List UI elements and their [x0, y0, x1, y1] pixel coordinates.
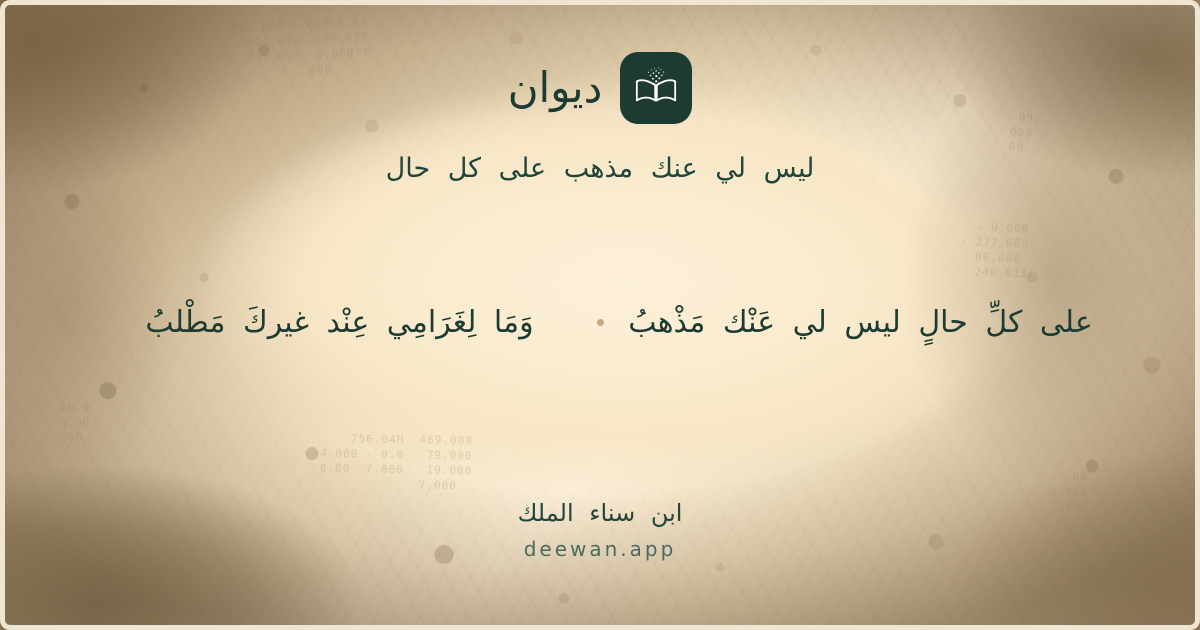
deewan-logo	[620, 52, 692, 124]
verse-second-hemistich: وَمَا لِغَرَامِي عِنْد غيركَ مَطْلبُ	[101, 300, 579, 345]
dot-separator-icon	[597, 319, 604, 326]
open-book-with-sparkles-icon	[633, 65, 679, 111]
poem-verse: على كلِّ حالٍ ليس لي عَنْك مَذْهبُ وَمَا…	[0, 300, 1200, 345]
verse-first-hemistich: على كلِّ حالٍ ليس لي عَنْك مَذْهبُ	[622, 300, 1100, 345]
card-footer: ابن سناء الملك deewan.app	[0, 498, 1200, 561]
brand-name: ديوان	[508, 67, 603, 109]
brand-header: ديوان	[508, 52, 693, 124]
poet-name: ابن سناء الملك	[518, 498, 683, 529]
site-url: deewan.app	[524, 537, 677, 561]
poem-share-card: 0.77 009 - 005.000 90.077 - 004.000 7?0.…	[0, 0, 1200, 630]
card-content: ديوان ليس لي عنك مذهب على كل حال على كلِ…	[0, 0, 1200, 630]
poem-title: ليس لي عنك مذهب على كل حال	[386, 150, 815, 188]
